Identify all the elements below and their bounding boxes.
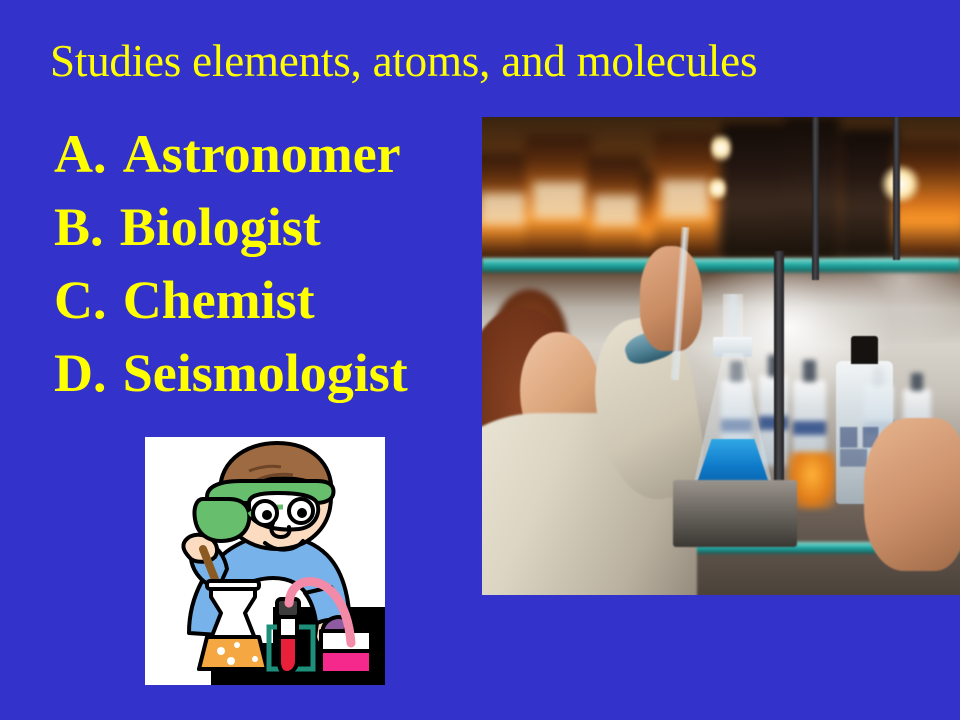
flask-rim [207,581,259,589]
pupil-right [297,508,307,518]
bubble-1 [217,647,225,655]
answer-option-c-label: Chemist [123,270,315,330]
answer-option-a-letter: A. [54,124,107,184]
hand-holding-bottle [864,418,960,571]
answer-option-d-label: Seismologist [123,343,408,403]
answer-option-a[interactable]: A.Astronomer [54,118,494,191]
bubble-3 [227,657,235,665]
chemist-in-laboratory-photo [482,117,960,595]
test-tube-liquid [279,637,297,673]
pupil-left [262,510,272,520]
bubble-2 [234,642,240,648]
clipart-drawing [145,437,385,685]
hotplate-stirrer [673,480,797,547]
answer-option-b-label: Biologist [120,197,321,257]
answer-option-d-letter: D. [54,343,107,403]
glass-shelf-top [482,258,960,273]
answer-option-c-letter: C. [54,270,107,330]
erlenmeyer-flask [692,294,773,490]
beaker-liquid [321,651,371,673]
cartoon-chemistry-student-clipart [145,437,385,685]
page-title: Studies elements, atoms, and molecules [50,38,930,85]
bubble-4 [252,656,258,662]
photo-content [482,117,960,595]
answer-option-a-label: Astronomer [123,124,401,184]
answer-option-b[interactable]: B.Biologist [54,191,494,264]
answer-option-d[interactable]: D.Seismologist [54,337,494,410]
goggles-left-lens [194,499,249,541]
answer-option-b-letter: B. [54,197,104,257]
quiz-slide: Studies elements, atoms, and molecules A… [0,0,960,720]
answer-options-list: A.Astronomer B.Biologist C.Chemist D.Sei… [54,118,494,410]
answer-option-c[interactable]: C.Chemist [54,264,494,337]
